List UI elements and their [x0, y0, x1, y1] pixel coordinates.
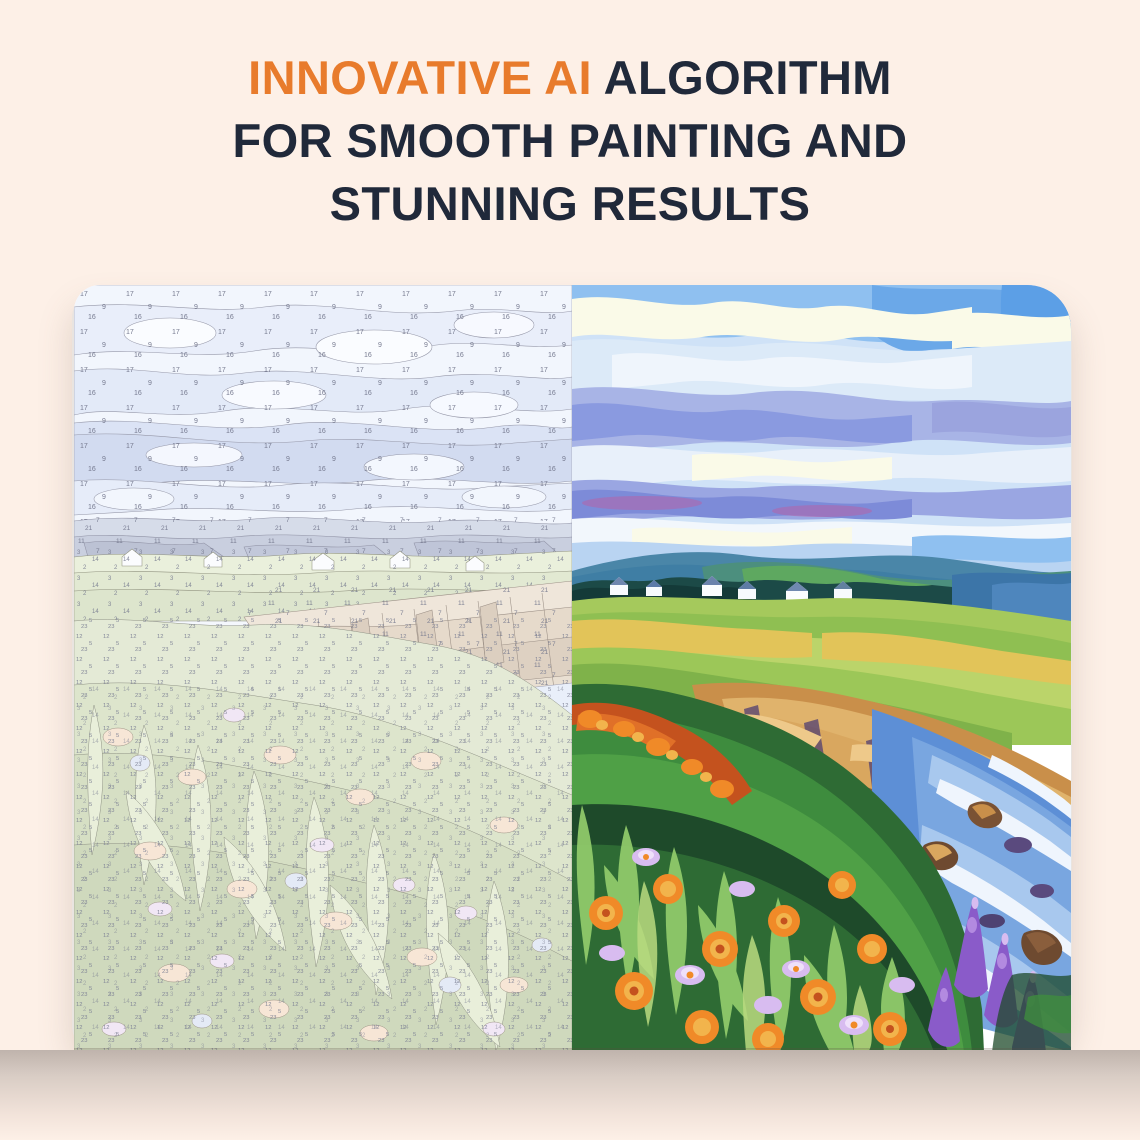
- paint-by-numbers-panel: 17 9 16 11 7 21 3 14 2 12 5 23: [74, 285, 572, 1052]
- table-surface: [0, 1050, 1140, 1140]
- headline-line-3: STUNNING RESULTS: [0, 172, 1140, 235]
- headline-line-2: FOR SMOOTH PAINTING AND: [0, 109, 1140, 172]
- headline-accent-text: INNOVATIVE AI: [248, 51, 592, 104]
- headline-line-1: INNOVATIVE AI ALGORITHM: [0, 46, 1140, 109]
- finished-painting-panel: [572, 285, 1071, 1052]
- finished-painting-artwork: [572, 285, 1071, 1052]
- comparison-canvas: 17 9 16 11 7 21 3 14 2 12 5 23: [74, 285, 1071, 1052]
- page-headline: INNOVATIVE AI ALGORITHM FOR SMOOTH PAINT…: [0, 46, 1140, 235]
- headline-line-1-rest: ALGORITHM: [592, 51, 892, 104]
- paint-by-numbers-artwork: 17 9 16 11 7 21 3 14 2 12 5 23: [74, 285, 572, 1052]
